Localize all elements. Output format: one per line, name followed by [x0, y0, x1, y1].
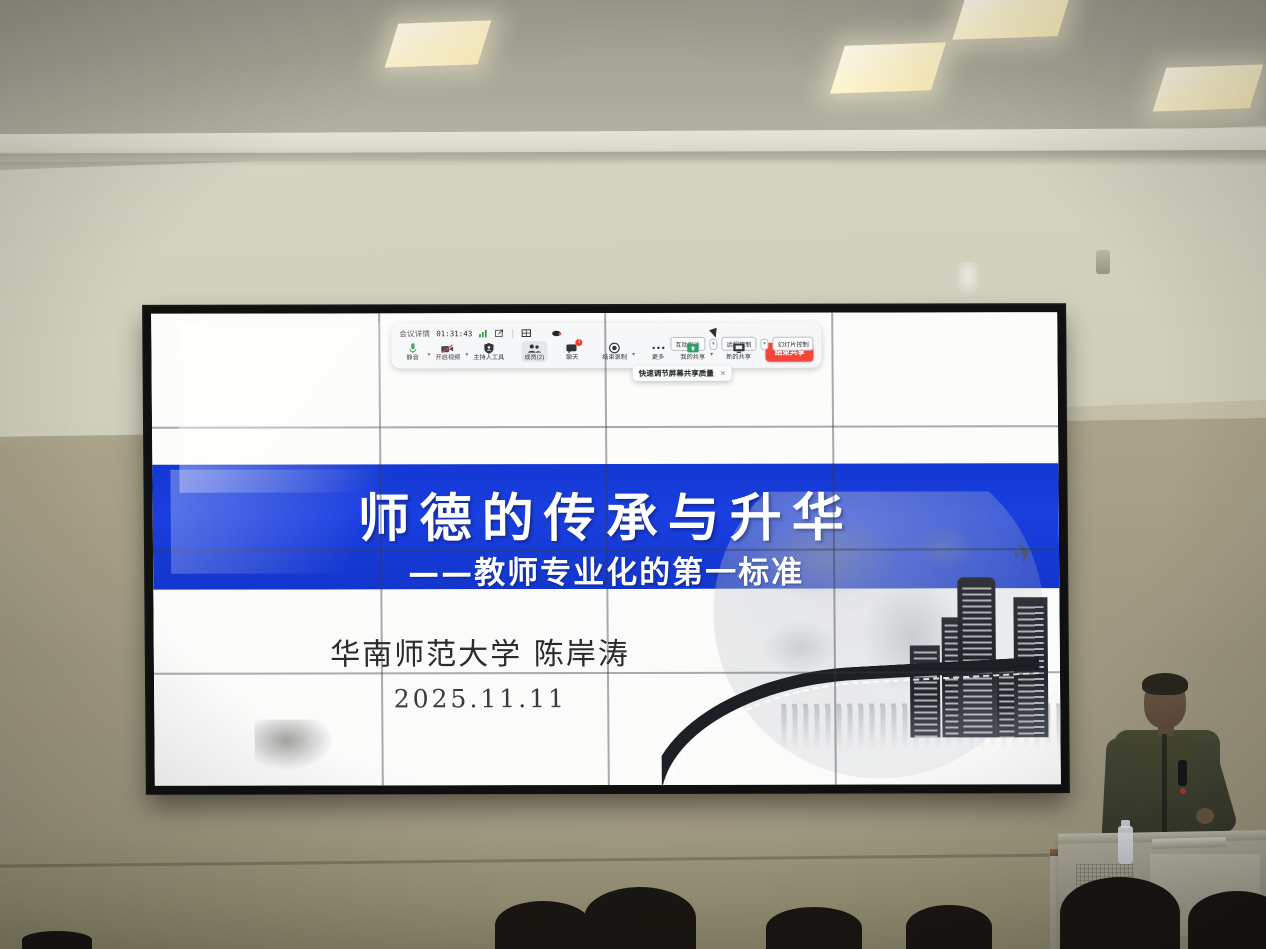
- stop-recording-label: 结束录制: [602, 355, 627, 362]
- shield-host-icon: [483, 343, 494, 355]
- participants-button[interactable]: 成员(2): [521, 341, 547, 362]
- participants-chat-group: 成员(2) 1 聊天: [521, 341, 671, 362]
- share-quality-tooltip-text: 快速调节屏幕共享质量: [639, 368, 714, 379]
- audience-head: [22, 931, 92, 949]
- new-share-icon: [732, 342, 745, 354]
- record-stop-icon: [609, 342, 621, 354]
- chevron-down-icon[interactable]: ▾: [428, 351, 431, 362]
- winding-road-icon: [660, 657, 1050, 785]
- audience-head: [766, 907, 862, 949]
- cloud-record-icon[interactable]: [551, 328, 561, 338]
- mute-button[interactable]: 静音: [399, 342, 425, 363]
- laptop: [1152, 837, 1226, 849]
- participants-label: 成员(2): [524, 355, 544, 362]
- meeting-timer: 01:31:43: [436, 329, 472, 338]
- mute-label: 静音: [406, 356, 418, 363]
- microphone-icon: [407, 343, 418, 355]
- start-video-button[interactable]: 开启视频: [432, 342, 463, 363]
- slide-date: 2025.11.11: [154, 683, 807, 713]
- start-video-label: 开启视频: [436, 356, 461, 363]
- chevron-down-icon[interactable]: ▾: [465, 351, 468, 362]
- water-bottle: [1118, 826, 1133, 864]
- chat-button[interactable]: 1 聊天: [559, 341, 585, 362]
- slide-title: 师德的传承与升华: [152, 475, 1059, 552]
- share-quality-tooltip: 快速调节屏幕共享质量 ✕: [633, 366, 732, 381]
- slide-author: 华南师范大学 陈岸涛: [154, 629, 807, 674]
- meeting-toolbar[interactable]: 会议详情 01:31:43: [391, 323, 822, 369]
- ceiling-light-panel: [952, 0, 1071, 40]
- ceiling-sensor-icon: [1096, 250, 1110, 274]
- microphone-icon: [1178, 760, 1187, 786]
- more-label: 更多: [652, 355, 664, 362]
- more-button[interactable]: 更多: [645, 341, 671, 362]
- camera-off-icon: [441, 343, 455, 355]
- chevron-down-icon[interactable]: ▾: [760, 339, 769, 350]
- chat-label: 聊天: [566, 355, 578, 362]
- audience-head: [1060, 877, 1180, 949]
- audience-head: [495, 901, 591, 949]
- chevron-down-icon[interactable]: ▾: [632, 351, 635, 362]
- lecture-hall-scene: ✈ 师德的传承与升华 ——教师专业化的第一标准 华南师范大学 陈岸涛 2025.…: [0, 0, 1266, 949]
- host-tools-label: 主持人工具: [473, 356, 504, 363]
- slide-control-button[interactable]: 幻灯片控制: [773, 337, 814, 351]
- chevron-down-icon[interactable]: ▾: [709, 339, 718, 350]
- new-share-label: 新的共享: [726, 355, 751, 362]
- audio-video-group: 静音 ▾ 开启视频 ▾: [399, 342, 507, 363]
- close-icon[interactable]: ✕: [720, 369, 726, 377]
- ceiling-light-panel: [1153, 64, 1264, 111]
- ceiling-light-panel: [385, 20, 492, 67]
- video-wall-surface: ✈ 师德的传承与升华 ——教师专业化的第一标准 华南师范大学 陈岸涛 2025.…: [151, 312, 1061, 786]
- presentation-slide: ✈ 师德的传承与升华 ——教师专业化的第一标准 华南师范大学 陈岸涛 2025.…: [151, 312, 1061, 786]
- participants-icon: [527, 342, 541, 354]
- chat-unread-badge: 1: [576, 339, 583, 346]
- signal-bars-icon[interactable]: [478, 329, 488, 339]
- toolbar-divider: [512, 329, 513, 338]
- layout-view-icon[interactable]: [521, 329, 531, 339]
- audience-head: [584, 887, 696, 949]
- external-link-icon[interactable]: [494, 329, 504, 339]
- ceiling-light-panel: [830, 42, 946, 93]
- chevron-down-icon[interactable]: ▾: [710, 351, 713, 362]
- meeting-details-label[interactable]: 会议详情: [399, 328, 430, 339]
- presenter-hand: [1196, 808, 1214, 824]
- stop-recording-button[interactable]: 结束录制: [599, 341, 630, 362]
- more-dots-icon: [651, 342, 665, 354]
- presenter-hair: [1142, 673, 1188, 695]
- chat-icon: 1: [566, 342, 579, 354]
- wall-stain: [955, 262, 981, 298]
- slide-subtitle: ——教师专业化的第一标准: [153, 546, 1059, 593]
- audience-head: [1188, 891, 1266, 949]
- host-tools-button[interactable]: 主持人工具: [470, 342, 507, 363]
- microphone-indicator: [1180, 788, 1186, 794]
- video-wall-display[interactable]: ✈ 师德的传承与升华 ——教师专业化的第一标准 华南师范大学 陈岸涛 2025.…: [144, 305, 1068, 793]
- audience-head: [906, 905, 992, 949]
- my-share-label: 我的共享: [680, 355, 705, 362]
- my-share-icon: [686, 342, 699, 354]
